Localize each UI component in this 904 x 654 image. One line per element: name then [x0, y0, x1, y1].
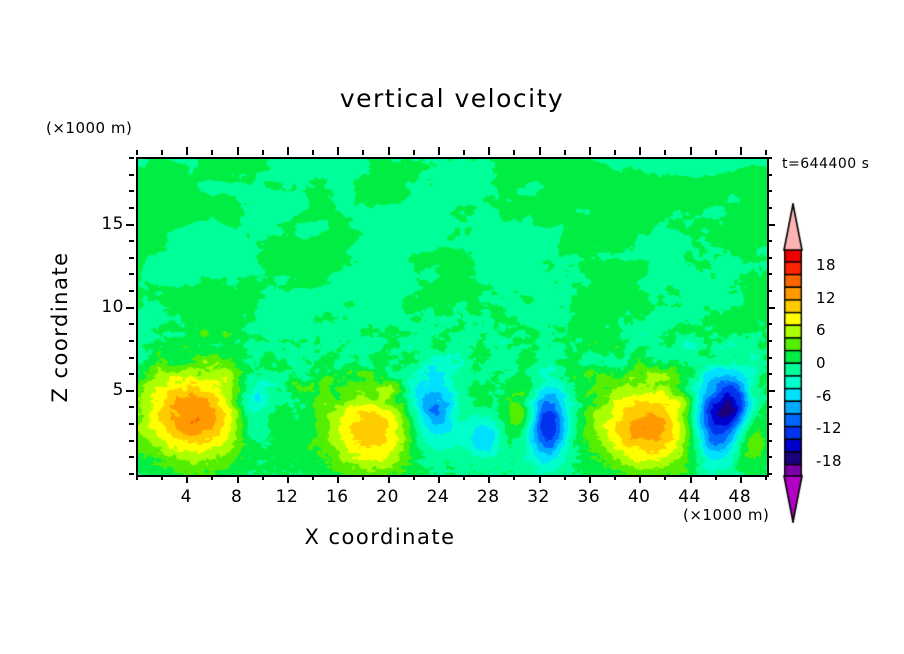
x-tick	[740, 475, 742, 483]
vertical-velocity-field	[138, 159, 767, 475]
y-tick-inner	[767, 473, 772, 475]
x-tick-label: 44	[678, 487, 701, 507]
timestamp-label: t=644400 s	[782, 156, 869, 172]
x-tick	[362, 475, 364, 480]
x-tick	[564, 475, 566, 480]
colorbar-tick-label: 6	[816, 321, 826, 339]
x-tick	[765, 475, 767, 480]
y-tick	[126, 224, 134, 226]
x-tick	[312, 475, 314, 480]
y-tick	[129, 240, 134, 242]
y-tick-inner	[767, 157, 772, 159]
x-tick-inner	[337, 147, 339, 155]
x-tick-label: 40	[628, 487, 651, 507]
x-tick-inner	[186, 147, 188, 155]
y-tick	[126, 307, 134, 309]
x-tick	[715, 475, 717, 480]
colorbar-tick-label: 18	[816, 256, 836, 274]
x-tick-label: 48	[729, 487, 752, 507]
y-tick	[129, 273, 134, 275]
y-tick-label: 10	[84, 297, 124, 317]
y-tick-inner	[767, 456, 772, 458]
x-tick	[413, 475, 415, 480]
x-tick	[513, 475, 515, 480]
x-tick	[488, 475, 490, 483]
y-tick	[129, 190, 134, 192]
y-tick-inner	[767, 190, 772, 192]
x-tick-label: 20	[376, 487, 399, 507]
y-tick-label: 15	[84, 214, 124, 234]
x-tick	[539, 475, 541, 483]
x-tick-inner	[564, 150, 566, 155]
x-axis-unit-label: (×1000 m)	[683, 506, 769, 524]
y-tick-inner	[767, 307, 775, 309]
y-tick-inner	[767, 390, 775, 392]
x-tick-inner	[262, 150, 264, 155]
y-tick-inner	[767, 406, 772, 408]
x-tick	[262, 475, 264, 480]
y-tick	[129, 323, 134, 325]
x-tick-inner	[211, 150, 213, 155]
y-tick-inner	[767, 340, 772, 342]
x-tick-inner	[740, 147, 742, 155]
x-tick-inner	[513, 150, 515, 155]
y-tick-inner	[767, 373, 772, 375]
y-tick	[129, 473, 134, 475]
x-tick	[136, 475, 138, 480]
x-tick	[438, 475, 440, 483]
colorbar-tick-label: 12	[816, 289, 836, 307]
x-tick	[237, 475, 239, 483]
y-tick	[129, 406, 134, 408]
x-axis-title: X coordinate	[0, 525, 760, 549]
x-tick-inner	[237, 147, 239, 155]
x-tick-label: 28	[477, 487, 500, 507]
contour-plot-area	[136, 157, 769, 477]
y-tick	[129, 340, 134, 342]
z-axis-unit-label: (×1000 m)	[46, 119, 132, 137]
y-tick	[129, 157, 134, 159]
colorbar-tick-label: 0	[816, 354, 826, 372]
y-tick	[129, 290, 134, 292]
chart-title: vertical velocity	[0, 84, 904, 113]
colorbar-tick-label: -12	[816, 419, 842, 437]
x-tick	[287, 475, 289, 483]
y-tick	[129, 373, 134, 375]
x-tick-inner	[539, 147, 541, 155]
x-tick	[589, 475, 591, 483]
x-tick-inner	[589, 147, 591, 155]
y-tick	[129, 456, 134, 458]
x-tick-inner	[312, 150, 314, 155]
y-axis-title: Z coordinate	[48, 227, 72, 427]
plot-canvas: vertical velocity (×1000 m) (×1000 m) t=…	[0, 0, 904, 654]
y-tick-inner	[767, 273, 772, 275]
y-tick-inner	[767, 323, 772, 325]
x-tick-label: 12	[276, 487, 299, 507]
x-tick-inner	[614, 150, 616, 155]
colorbar-tick-label: -6	[816, 387, 832, 405]
x-tick-label: 8	[231, 487, 242, 507]
x-tick-inner	[639, 147, 641, 155]
x-tick-inner	[438, 147, 440, 155]
colorbar-swatches	[780, 203, 810, 523]
x-tick-label: 36	[578, 487, 601, 507]
y-tick-inner	[767, 207, 772, 209]
x-tick-inner	[765, 150, 767, 155]
y-tick-inner	[767, 240, 772, 242]
y-tick-inner	[767, 174, 772, 176]
y-tick	[129, 207, 134, 209]
x-tick	[186, 475, 188, 483]
x-tick-inner	[362, 150, 364, 155]
x-tick-label: 4	[181, 487, 192, 507]
x-tick-inner	[690, 147, 692, 155]
y-tick-inner	[767, 440, 772, 442]
x-tick	[463, 475, 465, 480]
y-tick-label: 5	[84, 380, 124, 400]
y-tick-inner	[767, 257, 772, 259]
colorbar	[780, 203, 810, 523]
x-tick	[337, 475, 339, 483]
x-tick-inner	[136, 150, 138, 155]
y-tick-inner	[767, 290, 772, 292]
y-tick	[129, 440, 134, 442]
x-tick	[639, 475, 641, 483]
y-tick-inner	[767, 423, 772, 425]
x-tick-inner	[388, 147, 390, 155]
x-tick	[690, 475, 692, 483]
y-tick	[126, 390, 134, 392]
x-tick-inner	[463, 150, 465, 155]
y-tick	[129, 423, 134, 425]
y-tick	[129, 174, 134, 176]
x-tick-inner	[161, 150, 163, 155]
x-tick	[664, 475, 666, 480]
x-tick	[614, 475, 616, 480]
y-tick-inner	[767, 357, 772, 359]
x-tick	[161, 475, 163, 480]
x-tick-inner	[715, 150, 717, 155]
colorbar-tick-label: -18	[816, 452, 842, 470]
x-tick-label: 16	[326, 487, 349, 507]
x-tick-inner	[287, 147, 289, 155]
y-tick-inner	[767, 224, 775, 226]
x-tick-inner	[664, 150, 666, 155]
x-tick	[211, 475, 213, 480]
x-tick-label: 24	[427, 487, 450, 507]
y-tick	[129, 357, 134, 359]
x-tick-inner	[488, 147, 490, 155]
x-tick-label: 32	[527, 487, 550, 507]
y-tick	[129, 257, 134, 259]
x-tick-inner	[413, 150, 415, 155]
x-tick	[388, 475, 390, 483]
